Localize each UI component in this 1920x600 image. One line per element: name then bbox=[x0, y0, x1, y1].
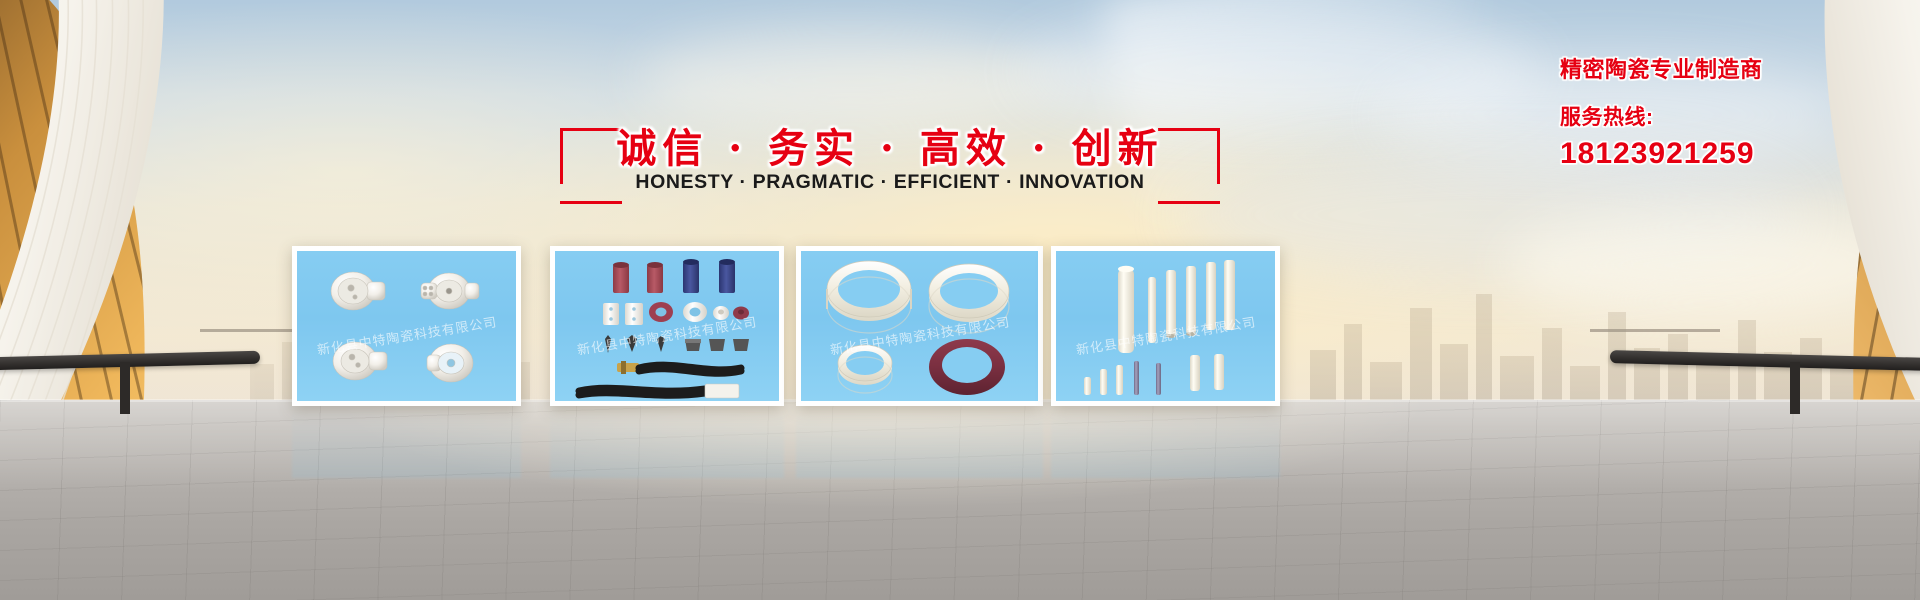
product-panel-ceramic-bushings[interactable]: 新化县中特陶瓷科技有限公司 bbox=[550, 246, 784, 406]
railing-post bbox=[1790, 362, 1800, 414]
hotline-label: 服务热线: bbox=[1560, 101, 1900, 131]
product-panel-row: 新化县中特陶瓷科技有限公司 bbox=[292, 246, 1532, 406]
railing-left bbox=[0, 351, 260, 371]
cloud bbox=[1500, 210, 1920, 320]
hero-banner: 诚信 · 务实 · 高效 · 创新 HONESTY · PRAGMATIC · … bbox=[0, 0, 1920, 600]
floor-reflection-sheen bbox=[0, 400, 1920, 600]
slogan-english: HONESTY · PRAGMATIC · EFFICIENT · INNOVA… bbox=[560, 171, 1220, 194]
bracket-bottom-left bbox=[560, 201, 622, 204]
railing-right bbox=[1610, 350, 1920, 371]
hotline-number[interactable]: 18123921259 bbox=[1560, 137, 1900, 171]
product-panel-ceramic-lamp-holders[interactable]: 新化县中特陶瓷科技有限公司 bbox=[292, 246, 521, 406]
bracket-bottom-right bbox=[1158, 201, 1220, 204]
slogan-block: 诚信 · 务实 · 高效 · 创新 HONESTY · PRAGMATIC · … bbox=[560, 108, 1220, 218]
product-panel-ceramic-rings[interactable]: 新化县中特陶瓷科技有限公司 bbox=[796, 246, 1043, 406]
company-tagline: 精密陶瓷专业制造商 bbox=[1560, 52, 1900, 84]
railing-post bbox=[120, 362, 130, 414]
slogan-chinese: 诚信 · 务实 · 高效 · 创新 bbox=[560, 116, 1220, 174]
product-panel-ceramic-rods[interactable]: 新化县中特陶瓷科技有限公司 bbox=[1051, 246, 1280, 406]
railing-bar-thin-right bbox=[1590, 329, 1720, 332]
contact-block: 精密陶瓷专业制造商 服务热线: 18123921259 bbox=[1560, 52, 1900, 171]
